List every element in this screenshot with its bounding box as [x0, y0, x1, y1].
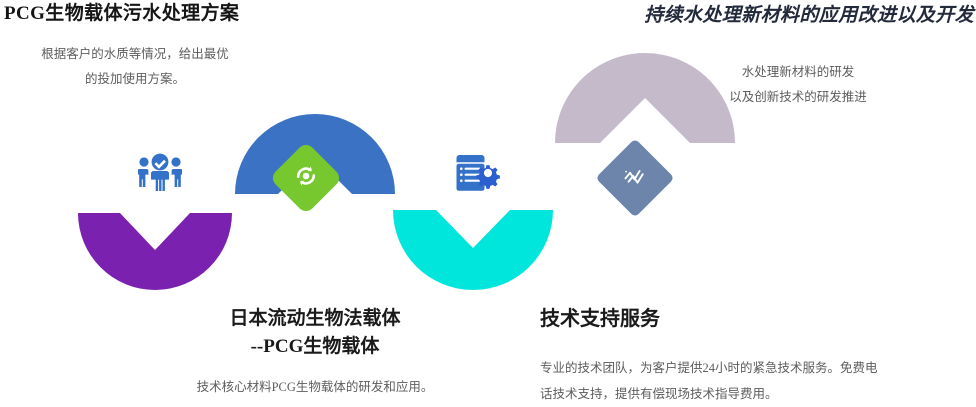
purple-bowl-shape	[78, 213, 232, 290]
bottom-left-heading: 日本流动生物法载体 --PCG生物载体	[165, 305, 465, 361]
top-left-description-line1: 根据客户的水质等情况，给出最优	[20, 42, 250, 67]
top-right-description: 水处理新材料的研发 以及创新技术的研发推进	[678, 60, 918, 110]
line-chart-icon	[621, 162, 649, 195]
bottom-right-description-line1: 专业的技术团队，为客户提供24小时的紧急技术服务。免费电	[540, 355, 960, 381]
bottom-left-heading-line2: --PCG生物载体	[165, 333, 465, 361]
cyan-bowl-shape	[393, 210, 553, 290]
top-left-description-line2: 的投加使用方案。	[20, 67, 250, 92]
line-chart-diamond	[607, 150, 663, 206]
bottom-right-description-line2: 话技术支持，提供有偿现场技术指导费用。	[540, 381, 960, 407]
page-title-left: PCG生物载体污水处理方案	[4, 0, 239, 25]
bottom-right-description: 专业的技术团队，为客户提供24小时的紧急技术服务。免费电 话技术支持，提供有偿现…	[540, 355, 960, 407]
page-title-right: 持续水处理新材料的应用改进以及开发	[644, 0, 974, 27]
recycle-water-diamond	[280, 152, 332, 204]
team-check-icon	[138, 152, 182, 192]
top-right-description-line2: 以及创新技术的研发推进	[678, 85, 918, 110]
recycle-water-icon	[292, 162, 320, 195]
bottom-left-description: 技术核心材料PCG生物载体的研发和应用。	[150, 375, 480, 400]
bottom-left-heading-line1: 日本流动生物法载体	[165, 305, 465, 333]
top-left-description: 根据客户的水质等情况，给出最优 的投加使用方案。	[20, 42, 250, 92]
bottom-right-heading: 技术支持服务	[540, 305, 840, 333]
top-right-description-line1: 水处理新材料的研发	[678, 60, 918, 85]
server-gear-icon	[455, 152, 501, 194]
infographic-canvas: PCG生物载体污水处理方案 持续水处理新材料的应用改进以及开发 根据客户的水质等…	[0, 0, 976, 406]
